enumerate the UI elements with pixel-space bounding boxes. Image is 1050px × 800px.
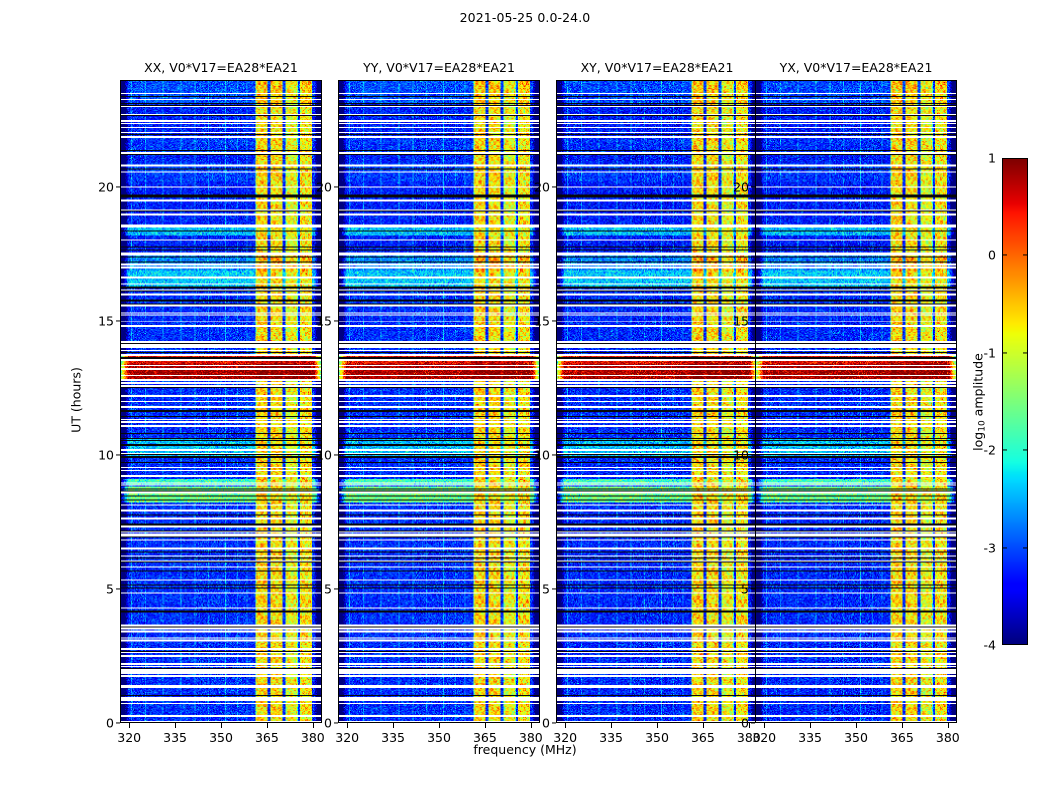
y-tick-mark (552, 187, 557, 188)
x-tick-label: 350 (209, 730, 233, 745)
y-tick-mark (116, 588, 121, 589)
colorbar-label: log10 amplitude (971, 353, 986, 451)
x-tick-mark (657, 723, 658, 728)
panel-title-yx: YX, V0*V17=EA28*EA21 (780, 60, 933, 75)
y-tick-mark (116, 321, 121, 322)
panel-yy[interactable]: YY, V0*V17=EA28*EA21 05101520 3203353503… (338, 80, 540, 723)
panel-title-xx: XX, V0*V17=EA28*EA21 (144, 60, 298, 75)
x-tick-label: 365 (890, 730, 914, 745)
panel-title-yy: YY, V0*V17=EA28*EA21 (363, 60, 515, 75)
spectrogram-image-xx (121, 81, 321, 722)
heatmap-yx[interactable] (755, 80, 957, 723)
figure-suptitle: 2021-05-25 0.0-24.0 (0, 10, 1050, 25)
spectrogram-image-yx (756, 81, 956, 722)
x-tick-label: 365 (473, 730, 497, 745)
x-tick-label: 335 (599, 730, 623, 745)
y-tick-mark (552, 588, 557, 589)
x-tick-label: 380 (301, 730, 325, 745)
x-tick-label: 365 (691, 730, 715, 745)
x-tick-label: 335 (163, 730, 187, 745)
x-tick-mark (565, 723, 566, 728)
y-tick-label: 0 (741, 716, 749, 731)
y-tick-label: 5 (106, 582, 114, 597)
x-tick-mark (393, 723, 394, 728)
colorbar-tick-label: 1 (988, 151, 996, 166)
figure-canvas: 2021-05-25 0.0-24.0 UT (hours) frequency… (0, 0, 1050, 800)
x-tick-mark (856, 723, 857, 728)
x-tick-label: 365 (255, 730, 279, 745)
colorbar-label-subscript: 10 (978, 420, 988, 431)
colorbar-tick-mark (1002, 255, 1007, 256)
y-tick-mark (334, 722, 339, 723)
y-tick-label: 20 (534, 180, 550, 195)
y-tick-label: 10 (98, 448, 114, 463)
y-tick-mark (751, 321, 756, 322)
colorbar-tick-mark (1002, 352, 1007, 353)
y-tick-mark (116, 187, 121, 188)
x-tick-label: 320 (553, 730, 577, 745)
x-tick-label: 350 (844, 730, 868, 745)
panel-xy[interactable]: XY, V0*V17=EA28*EA21 05101520 3203353503… (556, 80, 758, 723)
y-tick-label: 5 (324, 582, 332, 597)
x-tick-mark (221, 723, 222, 728)
y-tick-mark (751, 722, 756, 723)
heatmap-xy[interactable] (556, 80, 758, 723)
colorbar-gradient (1002, 158, 1028, 645)
colorbar-tick-mark (1002, 450, 1007, 451)
x-tick-label: 320 (335, 730, 359, 745)
y-tick-mark (552, 722, 557, 723)
colorbar-tick-label: -3 (984, 540, 996, 555)
colorbar-tick-mark (1023, 352, 1028, 353)
y-tick-label: 15 (316, 314, 332, 329)
x-tick-mark (764, 723, 765, 728)
y-tick-mark (751, 455, 756, 456)
colorbar[interactable]: 10-1-2-3-4 (1002, 158, 1028, 645)
x-tick-label: 320 (117, 730, 141, 745)
x-tick-label: 380 (519, 730, 543, 745)
x-tick-mark (611, 723, 612, 728)
y-tick-label: 15 (98, 314, 114, 329)
y-tick-label: 0 (106, 716, 114, 731)
x-tick-mark (902, 723, 903, 728)
x-tick-mark (439, 723, 440, 728)
y-tick-mark (751, 187, 756, 188)
y-tick-label: 10 (316, 448, 332, 463)
y-axis-label: UT (hours) (69, 367, 84, 433)
y-tick-mark (116, 455, 121, 456)
x-tick-mark (531, 723, 532, 728)
panel-title-xy: XY, V0*V17=EA28*EA21 (581, 60, 734, 75)
x-tick-mark (810, 723, 811, 728)
x-tick-mark (485, 723, 486, 728)
y-tick-mark (334, 455, 339, 456)
y-tick-mark (334, 588, 339, 589)
x-tick-label: 350 (645, 730, 669, 745)
panel-xx[interactable]: XX, V0*V17=EA28*EA21 05101520 3203353503… (120, 80, 322, 723)
y-tick-mark (552, 321, 557, 322)
x-tick-mark (129, 723, 130, 728)
x-tick-mark (313, 723, 314, 728)
colorbar-tick-mark (1023, 450, 1028, 451)
panel-yx[interactable]: YX, V0*V17=EA28*EA21 05101520 3203353503… (755, 80, 957, 723)
y-tick-label: 15 (733, 314, 749, 329)
heatmap-xx[interactable] (120, 80, 322, 723)
y-tick-label: 5 (542, 582, 550, 597)
x-tick-mark (175, 723, 176, 728)
y-tick-mark (334, 321, 339, 322)
y-tick-label: 20 (316, 180, 332, 195)
y-tick-label: 20 (98, 180, 114, 195)
y-tick-mark (751, 588, 756, 589)
spectrogram-image-xy (557, 81, 757, 722)
colorbar-tick-label: 0 (988, 248, 996, 263)
y-tick-label: 0 (324, 716, 332, 731)
x-tick-mark (703, 723, 704, 728)
y-tick-mark (334, 187, 339, 188)
colorbar-tick-label: -4 (984, 638, 996, 653)
x-tick-mark (948, 723, 949, 728)
heatmap-yy[interactable] (338, 80, 540, 723)
y-tick-label: 10 (534, 448, 550, 463)
y-tick-label: 0 (542, 716, 550, 731)
colorbar-label-text: log (971, 432, 986, 451)
x-tick-mark (267, 723, 268, 728)
colorbar-tick-mark (1023, 255, 1028, 256)
y-tick-label: 15 (534, 314, 550, 329)
y-tick-label: 20 (733, 180, 749, 195)
y-tick-label: 5 (741, 582, 749, 597)
spectrogram-image-yy (339, 81, 539, 722)
y-tick-label: 10 (733, 448, 749, 463)
y-tick-mark (552, 455, 557, 456)
colorbar-tick-mark (1023, 547, 1028, 548)
x-tick-label: 335 (381, 730, 405, 745)
colorbar-label-tail: amplitude (971, 353, 986, 420)
colorbar-tick-mark (1002, 547, 1007, 548)
x-tick-label: 350 (427, 730, 451, 745)
y-tick-mark (116, 722, 121, 723)
x-tick-label: 380 (936, 730, 960, 745)
x-tick-label: 335 (798, 730, 822, 745)
x-tick-label: 320 (752, 730, 776, 745)
x-tick-mark (347, 723, 348, 728)
